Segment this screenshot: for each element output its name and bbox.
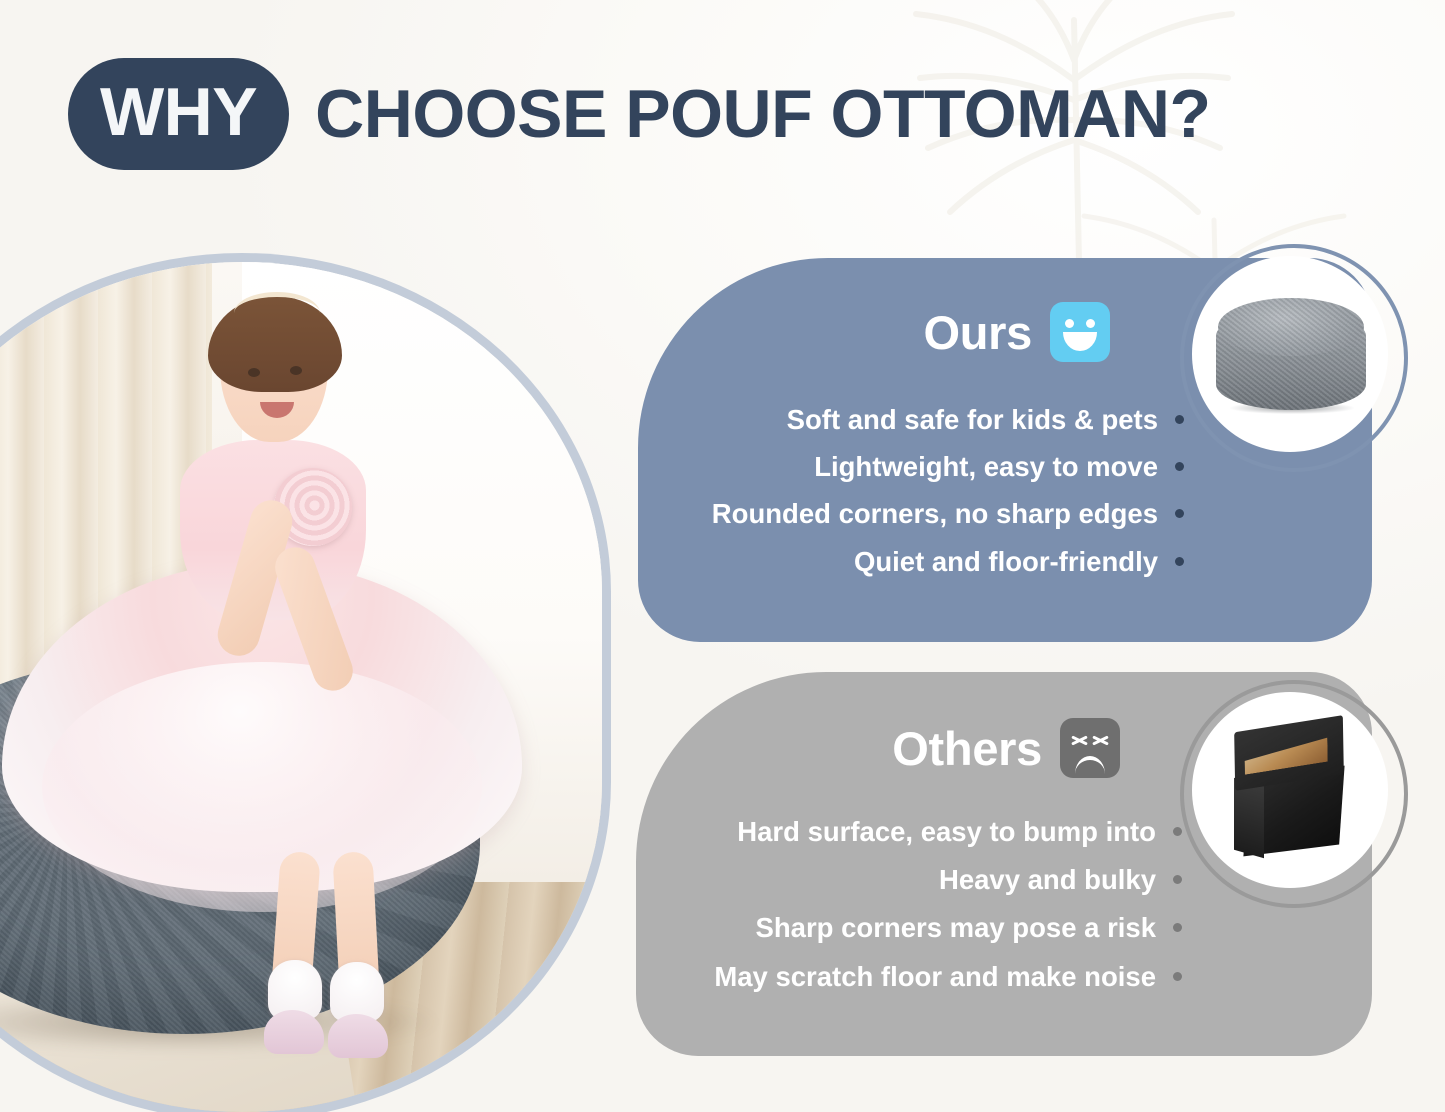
bullet-label: Soft and safe for kids & pets bbox=[787, 402, 1158, 437]
shoe-right bbox=[328, 1014, 388, 1058]
bullet-dot-icon bbox=[1175, 415, 1184, 424]
eye-left bbox=[248, 368, 260, 377]
list-item: May scratch floor and make noise bbox=[714, 959, 1182, 994]
why-badge: WHY bbox=[68, 58, 289, 170]
page-header: WHY CHOOSE POUF OTTOMAN? bbox=[68, 58, 1211, 170]
sock-right bbox=[330, 962, 384, 1022]
bullet-list-ours: Soft and safe for kids & pets Lightweigh… bbox=[712, 402, 1184, 579]
square-storage-box-ottoman-photo bbox=[1192, 692, 1388, 888]
girl-figure bbox=[62, 262, 482, 1062]
bullet-label: Sharp corners may pose a risk bbox=[756, 910, 1156, 945]
bullet-dot-icon bbox=[1175, 509, 1184, 518]
list-item: Soft and safe for kids & pets bbox=[712, 402, 1184, 437]
bullet-dot-icon bbox=[1173, 972, 1182, 981]
panel-title-others: Others bbox=[892, 725, 1042, 772]
bullet-dot-icon bbox=[1173, 875, 1182, 884]
bullet-dot-icon bbox=[1173, 827, 1182, 836]
bullet-label: Lightweight, easy to move bbox=[814, 449, 1158, 484]
frowning-face-icon bbox=[1060, 718, 1120, 778]
dress-skirt-overlay bbox=[42, 662, 482, 912]
round-pouf-ottoman-photo bbox=[1192, 256, 1388, 452]
list-item: Lightweight, easy to move bbox=[712, 449, 1184, 484]
list-item: Heavy and bulky bbox=[714, 862, 1182, 897]
infographic-canvas: WHY CHOOSE POUF OTTOMAN? bbox=[0, 0, 1445, 1112]
panel-header-others: Others bbox=[892, 718, 1120, 778]
square-storage-box-illustration bbox=[1214, 716, 1370, 868]
page-title: CHOOSE POUF OTTOMAN? bbox=[315, 80, 1210, 148]
bullet-dot-icon bbox=[1173, 923, 1182, 932]
panel-header-ours: Ours bbox=[924, 302, 1111, 362]
happy-face-icon bbox=[1050, 302, 1110, 362]
bullet-label: Rounded corners, no sharp edges bbox=[712, 496, 1158, 531]
lifestyle-photo-inner bbox=[0, 262, 602, 1112]
list-item: Sharp corners may pose a risk bbox=[714, 910, 1182, 945]
list-item: Quiet and floor-friendly bbox=[712, 544, 1184, 579]
bullet-label: Heavy and bulky bbox=[939, 862, 1156, 897]
round-pouf-illustration bbox=[1216, 298, 1366, 414]
bullet-dot-icon bbox=[1175, 557, 1184, 566]
panel-title-ours: Ours bbox=[924, 309, 1033, 356]
tiara-icon bbox=[234, 292, 320, 313]
bullet-dot-icon bbox=[1175, 462, 1184, 471]
bullet-label: May scratch floor and make noise bbox=[714, 959, 1156, 994]
list-item: Hard surface, easy to bump into bbox=[714, 814, 1182, 849]
bullet-list-others: Hard surface, easy to bump into Heavy an… bbox=[714, 814, 1182, 994]
lifestyle-photo bbox=[0, 262, 602, 1112]
list-item: Rounded corners, no sharp edges bbox=[712, 496, 1184, 531]
bullet-label: Hard surface, easy to bump into bbox=[737, 814, 1156, 849]
bullet-label: Quiet and floor-friendly bbox=[854, 544, 1158, 579]
eye-right bbox=[290, 366, 302, 375]
